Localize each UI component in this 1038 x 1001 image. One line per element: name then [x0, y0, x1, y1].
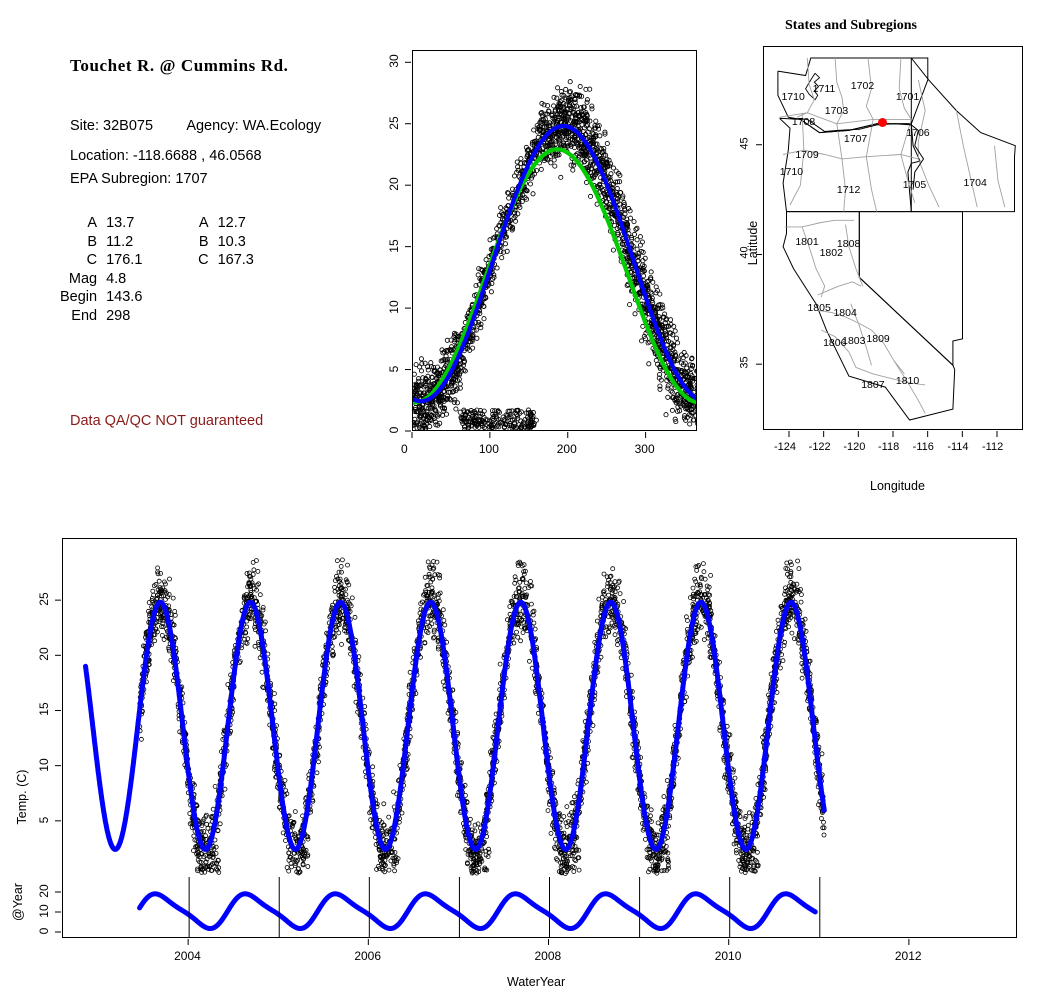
axis-tick-label: -114: [947, 442, 968, 453]
location-label: Location: -118.6688 , 46.0568: [70, 148, 262, 164]
param-key: End: [60, 309, 106, 328]
subregion-code-label: 1705: [903, 179, 926, 191]
axis-tick-label: 2004: [174, 950, 201, 962]
param-key-alt: B: [198, 235, 217, 254]
subregion-code-label: 1704: [963, 177, 986, 189]
map-plot-area: 1711171017021701170317081706170717091710…: [763, 46, 1023, 430]
timeseries-xaxis-title: WaterYear: [507, 975, 565, 989]
param-value-alt: 12.7: [218, 216, 292, 235]
axis-tick-label: 10: [388, 295, 400, 319]
param-key: B: [60, 235, 106, 254]
subregion-code-label: 1712: [837, 184, 860, 196]
table-row: Begin 143.6: [60, 290, 292, 309]
qa-warning-text: Data QA/QC NOT guaranteed: [70, 413, 263, 429]
param-value: 13.7: [106, 216, 180, 235]
axis-tick-label: 25: [388, 111, 400, 135]
subregion-code-label: 1805: [807, 302, 830, 314]
axis-tick-label: 20: [38, 879, 50, 903]
axis-tick-label: -118: [878, 442, 899, 453]
axis-tick-label: 45: [740, 131, 751, 155]
subregion-code-label: 1702: [851, 80, 874, 92]
param-value: 4.8: [106, 272, 180, 291]
axis-tick-label: 20: [38, 642, 50, 666]
param-key: A: [60, 216, 106, 235]
timeseries-panel: 2004200620082010201251015202501020 Water…: [0, 500, 1038, 1001]
param-value: 143.6: [106, 290, 180, 309]
param-key: Begin: [60, 290, 106, 309]
subregion-code-label: 1807: [861, 379, 884, 391]
table-row: A 13.7 A 12.7: [60, 216, 292, 235]
axis-tick-label: -116: [913, 442, 934, 453]
axis-tick-label: 200: [557, 443, 577, 455]
fit-parameter-table: A 13.7 A 12.7 B 11.2 B 10.3 C 176.1 C 16…: [60, 216, 292, 327]
timeseries-yaxis-title: Temp. (C): [15, 767, 29, 827]
axis-tick-label: -120: [843, 442, 865, 453]
param-key: C: [60, 253, 106, 272]
agency-label: Agency: WA.Ecology: [186, 118, 321, 134]
seasonal-chart-svg: [413, 51, 697, 431]
map-yaxis-title: Latitude: [746, 213, 760, 273]
param-value-alt: 167.3: [218, 253, 292, 272]
site-id-label: Site: 32B075: [70, 118, 153, 134]
axis-tick-label: 20: [388, 172, 400, 196]
table-row: End 298: [60, 309, 292, 328]
subregion-code-label: 1809: [866, 333, 889, 345]
param-value: 298: [106, 309, 180, 328]
table-row: C 176.1 C 167.3: [60, 253, 292, 272]
axis-tick-label: 2012: [895, 950, 922, 962]
subregion-code-label: 1801: [795, 236, 818, 248]
axis-tick-label: 300: [635, 443, 655, 455]
axis-tick-label: -124: [774, 442, 796, 453]
site-id-line: Site: 32B075 Agency: WA.Ecology: [70, 118, 321, 134]
axis-tick-label: 10: [38, 753, 50, 777]
subregion-code-label: 1708: [792, 116, 815, 128]
param-value: 11.2: [106, 235, 180, 254]
subregion-code-label: 1804: [833, 307, 856, 319]
subregion-code-label: 1802: [820, 247, 843, 259]
axis-tick-label: 0: [388, 418, 400, 442]
axis-tick-label: 35: [740, 351, 751, 375]
param-key-alt: C: [198, 253, 217, 272]
subregion-code-label: 1806: [823, 337, 846, 349]
axis-tick-label: -122: [809, 442, 831, 453]
axis-tick-label: 0: [401, 443, 408, 455]
subregion-code-label: 1810: [896, 375, 919, 387]
subregion-code-label: 1707: [844, 133, 867, 145]
timeseries-chart-svg: [63, 539, 1017, 938]
subregion-code-label: 1710: [780, 166, 803, 178]
map-title: States and Subregions: [785, 18, 917, 34]
axis-tick-label: 15: [38, 697, 50, 721]
subregion-code-label: 1706: [906, 127, 929, 139]
param-value-alt: 10.3: [218, 235, 292, 254]
subregion-code-label: 1709: [795, 149, 818, 161]
axis-tick-label: 15: [388, 234, 400, 258]
seasonal-plot-area: [412, 50, 697, 431]
subregion-code-label: 1711: [813, 83, 836, 95]
param-value: 176.1: [106, 253, 180, 272]
map-xaxis-title: Longitude: [870, 479, 925, 493]
site-info-panel: Touchet R. @ Cummins Rd. Site: 32B075 Ag…: [0, 0, 390, 500]
subregion-code-label: 1701: [896, 91, 919, 103]
subregion-code-label: 1710: [781, 91, 804, 103]
axis-tick-label: 5: [388, 357, 400, 381]
page-title: Touchet R. @ Cummins Rd.: [70, 56, 289, 76]
subregion-code-label: 1703: [825, 105, 848, 117]
axis-tick-label: 30: [388, 49, 400, 73]
seasonal-scatter-panel: 0100200300051015202530: [390, 0, 735, 500]
axis-tick-label: 2006: [354, 950, 381, 962]
timeseries-secondary-yaxis-title: @Year: [11, 872, 25, 932]
axis-tick-label: 100: [479, 443, 499, 455]
timeseries-plot-area: [62, 538, 1017, 938]
table-row: Mag 4.8: [60, 272, 292, 291]
param-key-alt: A: [198, 216, 217, 235]
axis-tick-label: -112: [982, 442, 1003, 453]
axis-tick-label: 25: [38, 587, 50, 611]
axis-tick-label: 2010: [715, 950, 742, 962]
param-key: Mag: [60, 272, 106, 291]
axis-tick-label: 2008: [535, 950, 562, 962]
states-subregions-map-panel: States and Subregions 171117101702170117…: [735, 0, 1038, 500]
site-marker-dot: [878, 118, 887, 127]
axis-tick-label: 5: [38, 808, 50, 832]
epa-subregion-label: EPA Subregion: 1707: [70, 171, 208, 187]
table-row: B 11.2 B 10.3: [60, 235, 292, 254]
